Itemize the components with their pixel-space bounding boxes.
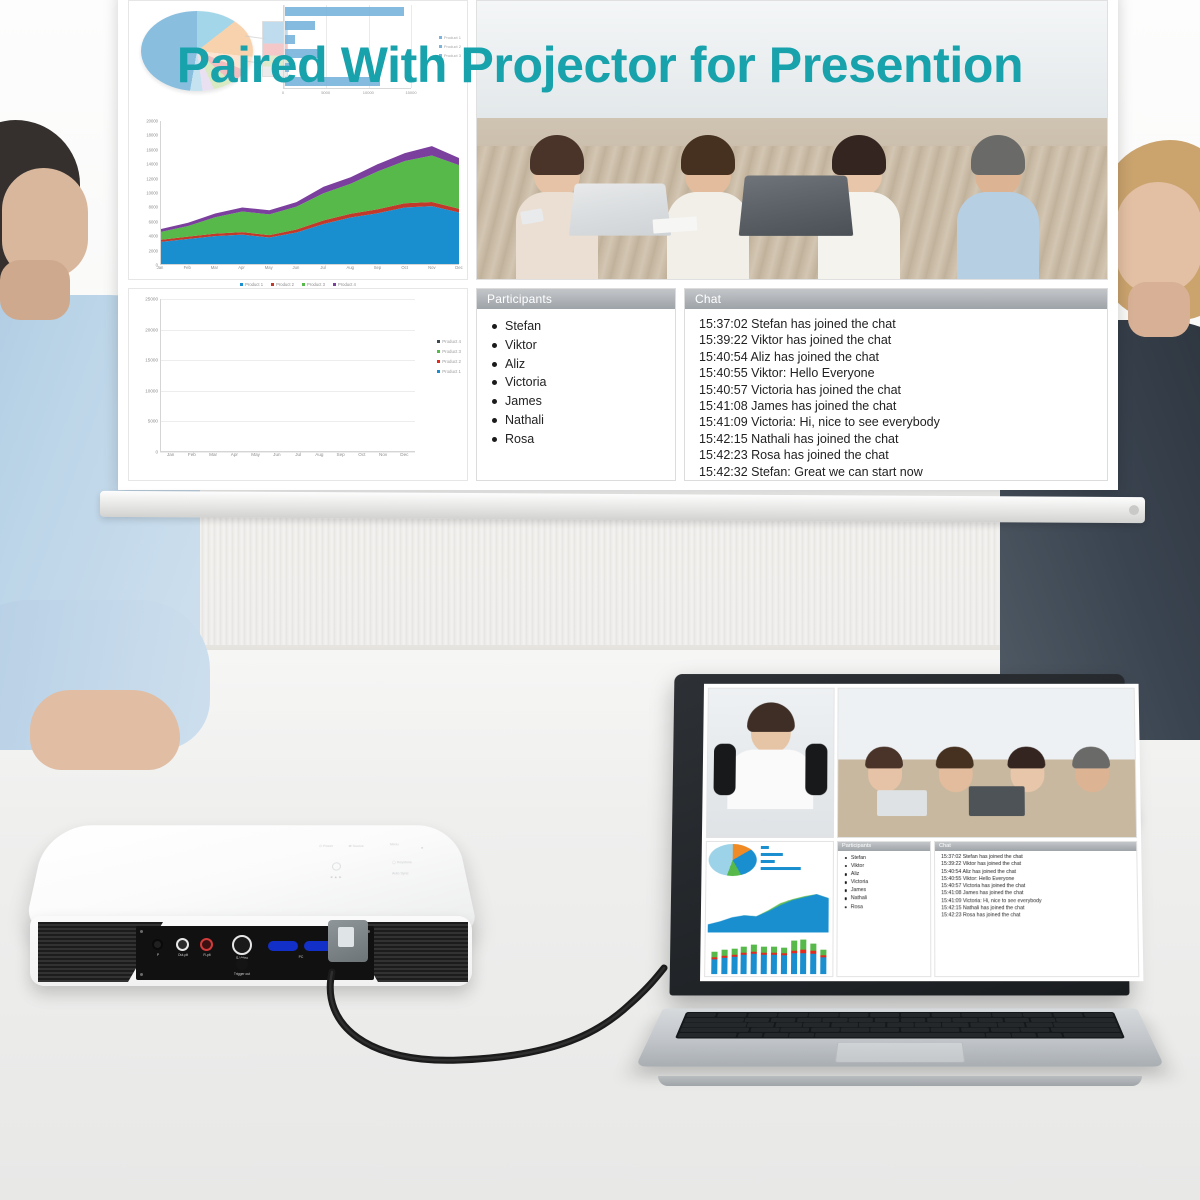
- keyboard-key[interactable]: [875, 1018, 900, 1022]
- hdmi-cable-plug[interactable]: [328, 920, 368, 962]
- keyboard-key[interactable]: [942, 1023, 969, 1027]
- keyboard-key[interactable]: [998, 1023, 1025, 1027]
- axis-tick: 5000: [148, 419, 158, 424]
- audio-jack-label: P: [157, 953, 159, 957]
- rca-red-port[interactable]: [200, 938, 213, 951]
- axis-tick: 10000: [146, 191, 158, 196]
- keyboard-key[interactable]: [747, 1013, 777, 1017]
- axis-tick: 8000: [149, 205, 158, 210]
- person-left-hand: [30, 690, 180, 770]
- laptop-chat-header: Chat: [935, 842, 1136, 851]
- axis-tick: Aug: [311, 452, 327, 464]
- keyboard-key[interactable]: [991, 1028, 1020, 1032]
- keyboard-key[interactable]: [915, 1023, 942, 1027]
- axis-tick: 20000: [146, 119, 158, 124]
- keyboard-key[interactable]: [1083, 1013, 1114, 1017]
- axis-tick: 16000: [146, 147, 158, 152]
- chat-message: 15:39:22 Viktor has joined the chat: [699, 332, 1107, 348]
- axis-tick: Oct: [401, 265, 408, 270]
- video-participant-1: [534, 144, 580, 196]
- laptop-trackpad[interactable]: [835, 1042, 965, 1062]
- laptop-participants-header: Participants: [838, 842, 930, 851]
- audio-jack-port[interactable]: [152, 939, 163, 950]
- video-feed-papers: [653, 216, 698, 233]
- axis-tick: Jan: [157, 265, 164, 270]
- column-chart-legend: Product 4Product 3Product 2Product 1: [437, 337, 461, 377]
- chat-message: 15:42:15 Nathali has joined the chat: [941, 905, 1137, 912]
- participant-item: Stefan: [491, 317, 675, 336]
- axis-tick: Mar: [205, 452, 221, 464]
- laptop-mirrored-slide: Participants StefanViktorAlizVictoriaJam…: [700, 684, 1143, 981]
- keyboard-key[interactable]: [778, 1013, 808, 1017]
- chat-message: 15:41:09 Victoria: Hi, nice to see every…: [699, 414, 1107, 430]
- axis-tick: Jul: [320, 265, 325, 270]
- keyboard-key[interactable]: [1004, 1018, 1029, 1022]
- chat-message: 15:42:15 Nathali has joined the chat: [699, 431, 1107, 447]
- keyboard-key[interactable]: [797, 1018, 822, 1022]
- axis-tick: 12000: [146, 176, 158, 181]
- axis-tick: Nov: [428, 265, 435, 270]
- page-title: Paired With Projector for Presention: [177, 37, 1023, 93]
- keyboard-key[interactable]: [747, 1023, 775, 1027]
- axis-tick: 2000: [149, 248, 158, 253]
- chat-message: 15:41:08 James has joined the chat: [941, 891, 1137, 898]
- participant-item: Viktor: [491, 336, 675, 355]
- keyboard-key[interactable]: [780, 1028, 809, 1032]
- keyboard-key[interactable]: [803, 1023, 830, 1027]
- laptop-chat-panel: Chat 15:37:02 Stefan has joined the chat…: [934, 841, 1139, 977]
- keyboard-key[interactable]: [978, 1018, 1003, 1022]
- axis-tick: 25000: [145, 297, 158, 302]
- keyboard-key[interactable]: [1053, 1013, 1083, 1017]
- keyboard-key[interactable]: [992, 1013, 1022, 1017]
- axis-tick: 14000: [146, 162, 158, 167]
- keyboard-key[interactable]: [737, 1033, 762, 1037]
- chat-message: 15:41:08 James has joined the chat: [699, 398, 1107, 414]
- chat-message: 15:40:55 Viktor: Hello Everyone: [699, 365, 1107, 381]
- keyboard-key[interactable]: [952, 1018, 977, 1022]
- panel-screw: [140, 930, 143, 933]
- projector-top-controls[interactable]: ⏻ Power ⇄ Source Menu ⏺ ◄ ▲ ► ◯ Keystone…: [316, 841, 449, 893]
- keyboard-key[interactable]: [682, 1023, 747, 1027]
- axis-tick: May: [265, 265, 273, 270]
- keyboard-key[interactable]: [717, 1013, 747, 1017]
- chat-message: 15:41:09 Victoria: Hi, nice to see every…: [941, 898, 1137, 905]
- area-series-group: [161, 121, 459, 264]
- keyboard-row: [684, 1018, 1116, 1022]
- chat-message: 15:42:23 Rosa has joined the chat: [699, 447, 1107, 463]
- keyboard-key[interactable]: [1023, 1013, 1053, 1017]
- keyboard-key[interactable]: [770, 1018, 795, 1022]
- keyboard-key[interactable]: [901, 1018, 926, 1022]
- chat-panel: Chat 15:37:02 Stefan has joined the chat…: [684, 288, 1108, 481]
- keyboard-key[interactable]: [887, 1023, 914, 1027]
- axis-tick: Dec: [396, 452, 412, 464]
- axis-tick: Feb: [184, 265, 191, 270]
- keyboard-key[interactable]: [986, 1033, 1011, 1037]
- participant-item: Victoria: [845, 878, 930, 886]
- chat-message-list: 15:37:02 Stefan has joined the chat15:39…: [685, 309, 1107, 480]
- legend-entry: Product 2: [437, 357, 461, 367]
- axis-tick: 6000: [149, 219, 158, 224]
- keyboard-key[interactable]: [680, 1028, 750, 1032]
- laptop-participants-panel: Participants StefanViktorAlizVictoriaJam…: [836, 841, 931, 977]
- keyboard-key[interactable]: [962, 1013, 992, 1017]
- panel-screw: [140, 973, 143, 976]
- keyboard-key[interactable]: [1020, 1028, 1050, 1032]
- keyboard-key[interactable]: [763, 1033, 788, 1037]
- rca-white-port[interactable]: [176, 938, 189, 951]
- chat-message: 15:40:57 Victoria has joined the chat: [941, 883, 1137, 890]
- laptop-meeting-panels: Participants StefanViktorAlizVictoriaJam…: [836, 841, 1139, 977]
- axis-tick: Sep: [374, 265, 381, 270]
- legend-entry: Product 1: [437, 367, 461, 377]
- legend-entry: Product 4: [437, 337, 461, 347]
- axis-tick: 20000: [145, 327, 158, 332]
- keyboard-key[interactable]: [831, 1023, 858, 1027]
- keyboard-key[interactable]: [1030, 1018, 1056, 1022]
- participant-item: Nathali: [845, 895, 930, 903]
- axis-tick: Dec: [455, 265, 462, 270]
- vga-label: PC: [299, 955, 304, 959]
- trigger-out-port[interactable]: [236, 958, 248, 970]
- area-chart-yaxis: 0200040006000800010000120001400016000180…: [133, 121, 159, 265]
- keyboard-key[interactable]: [789, 1033, 814, 1037]
- participants-panel: Participants StefanViktorAlizVictoriaJam…: [476, 288, 676, 481]
- axis-tick: Feb: [184, 452, 200, 464]
- participant-item: Stefan: [845, 854, 930, 862]
- chat-header: Chat: [685, 289, 1107, 309]
- axis-tick: Sep: [333, 452, 349, 464]
- keyboard-key[interactable]: [775, 1023, 802, 1027]
- keyboard-row: [686, 1013, 1114, 1017]
- chat-message: 15:40:55 Viktor: Hello Everyone: [941, 876, 1137, 883]
- axis-tick: Aug: [347, 265, 354, 270]
- keyboard-key[interactable]: [1056, 1018, 1116, 1022]
- keyboard-key[interactable]: [684, 1018, 744, 1022]
- keyboard-key[interactable]: [744, 1018, 770, 1022]
- participant-item: Victoria: [491, 373, 675, 392]
- keyboard-key[interactable]: [815, 1033, 985, 1037]
- laptop-lid: Participants StefanViktorAlizVictoriaJam…: [669, 674, 1129, 995]
- axis-tick: 15000: [145, 358, 158, 363]
- participant-item: James: [845, 886, 930, 894]
- axis-tick: 10000: [145, 388, 158, 393]
- keyboard-key[interactable]: [859, 1023, 886, 1027]
- column-chart-yaxis: 0500010000150002000025000: [133, 299, 159, 452]
- axis-tick: Jun: [269, 452, 285, 464]
- keyboard-key[interactable]: [839, 1013, 868, 1017]
- keyboard-key[interactable]: [809, 1013, 839, 1017]
- keyboard-key[interactable]: [901, 1013, 930, 1017]
- keyboard-row: [677, 1033, 1122, 1037]
- rca-white-label: Out-plt: [178, 953, 188, 957]
- keyboard-key[interactable]: [686, 1013, 717, 1017]
- keyboard-key[interactable]: [810, 1028, 839, 1032]
- keyboard-key[interactable]: [1053, 1023, 1118, 1027]
- legend-entry: Product 1: [240, 282, 263, 287]
- keyboard-key[interactable]: [931, 1013, 960, 1017]
- chat-message: 15:40:54 Aliz has joined the chat: [941, 869, 1137, 876]
- video-feed-laptop-dark: [738, 175, 853, 235]
- rca-red-label: R-plt: [203, 953, 210, 957]
- legend-entry: Product 3: [302, 282, 325, 287]
- keyboard-key[interactable]: [1063, 1033, 1123, 1037]
- trigger-out-label: Trigger out: [234, 972, 250, 976]
- axis-tick: Jun: [293, 265, 300, 270]
- keyboard-key[interactable]: [901, 1028, 930, 1032]
- keyboard-key[interactable]: [849, 1018, 874, 1022]
- keyboard-row: [680, 1028, 1121, 1032]
- laptop-video-feed-tile: [837, 688, 1137, 838]
- area-chart-plot: [160, 121, 459, 265]
- roller-knob: [1129, 505, 1139, 515]
- laptop-charts-tile: [704, 841, 834, 977]
- laptop-presenter-tile: [706, 688, 835, 838]
- axis-tick: Nov: [375, 452, 391, 464]
- laptop-device: Participants StefanViktorAlizVictoriaJam…: [650, 672, 1170, 1102]
- bar: [285, 7, 404, 16]
- axis-tick: Oct: [354, 452, 370, 464]
- meeting-panels: Participants StefanViktorAlizVictoriaJam…: [476, 288, 1108, 481]
- legend-entry: Product 2: [271, 282, 294, 287]
- person-left-neck: [0, 260, 70, 320]
- chat-message: 15:39:22 Viktor has joined the chat: [941, 861, 1136, 868]
- laptop-participants-list: StefanViktorAlizVictoriaJamesNathaliRosa: [838, 851, 930, 911]
- keyboard-key[interactable]: [750, 1028, 780, 1032]
- laptop-base: [636, 1009, 1165, 1067]
- dashboard-bottom-charts: 0200040006000800010000120001400016000180…: [128, 288, 468, 481]
- laptop-keyboard[interactable]: [675, 1012, 1125, 1039]
- keyboard-key[interactable]: [931, 1028, 960, 1032]
- keyboard-key[interactable]: [870, 1013, 899, 1017]
- participant-item: Rosa: [845, 903, 930, 911]
- chat-message: 15:42:23 Rosa has joined the chat: [941, 913, 1137, 920]
- keyboard-key[interactable]: [677, 1033, 737, 1037]
- participant-item: Rosa: [491, 430, 675, 449]
- keyboard-key[interactable]: [961, 1028, 990, 1032]
- chat-message: 15:40:57 Victoria has joined the chat: [699, 382, 1107, 398]
- video-participant-2: [685, 144, 731, 196]
- person-right-neck: [1128, 282, 1190, 337]
- stacked-column-chart: 0500010000150002000025000 JanFebMarAprMa…: [133, 293, 463, 476]
- axis-tick: Apr: [238, 265, 245, 270]
- participant-item: Nathali: [491, 411, 675, 430]
- axis-tick: Apr: [226, 452, 242, 464]
- laptop-chat-list: 15:37:02 Stefan has joined the chat15:39…: [935, 851, 1137, 920]
- axis-tick: Jul: [290, 452, 306, 464]
- keyboard-key[interactable]: [1050, 1028, 1120, 1032]
- axis-tick: 0: [155, 450, 158, 455]
- vga-port-1[interactable]: [268, 941, 298, 951]
- video-participant-4: [975, 144, 1021, 196]
- keyboard-key[interactable]: [970, 1023, 997, 1027]
- axis-tick: 18000: [146, 133, 158, 138]
- s-video-port[interactable]: [232, 935, 252, 955]
- participant-item: James: [491, 392, 675, 411]
- chat-message: 15:37:02 Stefan has joined the chat: [941, 854, 1136, 861]
- area-chart-xaxis: JanFebMarAprMayJunJulAugSepOctNovDec: [160, 265, 459, 277]
- participant-item: Aliz: [491, 355, 675, 374]
- participants-header: Participants: [477, 289, 675, 309]
- axis-tick: Jan: [163, 452, 179, 464]
- keyboard-row: [682, 1023, 1118, 1027]
- legend-entry: Product 4: [333, 282, 356, 287]
- participant-item: Aliz: [845, 870, 930, 878]
- laptop-base-lip: [658, 1076, 1142, 1086]
- person-right-face: [1116, 182, 1200, 294]
- keyboard-key[interactable]: [1012, 1033, 1037, 1037]
- window-blind: [95, 505, 1130, 645]
- laptop-screen[interactable]: Participants StefanViktorAlizVictoriaJam…: [700, 684, 1143, 981]
- column-chart-plot: [160, 299, 415, 452]
- keyboard-key[interactable]: [1037, 1033, 1062, 1037]
- area-chart-legend: Product 1Product 2Product 3Product 4: [133, 282, 463, 287]
- keyboard-key[interactable]: [871, 1028, 900, 1032]
- chat-message: 15:37:02 Stefan has joined the chat: [699, 316, 1107, 332]
- axis-tick: Mar: [211, 265, 218, 270]
- keyboard-key[interactable]: [823, 1018, 848, 1022]
- keyboard-key[interactable]: [840, 1028, 869, 1032]
- axis-tick: May: [248, 452, 264, 464]
- chat-message: 15:40:54 Aliz has joined the chat: [699, 349, 1107, 365]
- bar: [285, 21, 315, 30]
- chat-message: 15:42:32 Stefan: Great we can start now: [699, 464, 1107, 480]
- stacked-area-chart: 0200040006000800010000120001400016000180…: [133, 117, 463, 287]
- participants-list: StefanViktorAlizVictoriaJamesNathaliRosa: [477, 309, 675, 449]
- legend-entry: Product 3: [437, 347, 461, 357]
- keyboard-key[interactable]: [1026, 1023, 1054, 1027]
- keyboard-key[interactable]: [927, 1018, 952, 1022]
- column-chart-xaxis: JanFebMarAprMayJunJulAugSepOctNovDec: [160, 452, 415, 464]
- axis-tick: 4000: [149, 234, 158, 239]
- participant-item: Viktor: [845, 862, 930, 870]
